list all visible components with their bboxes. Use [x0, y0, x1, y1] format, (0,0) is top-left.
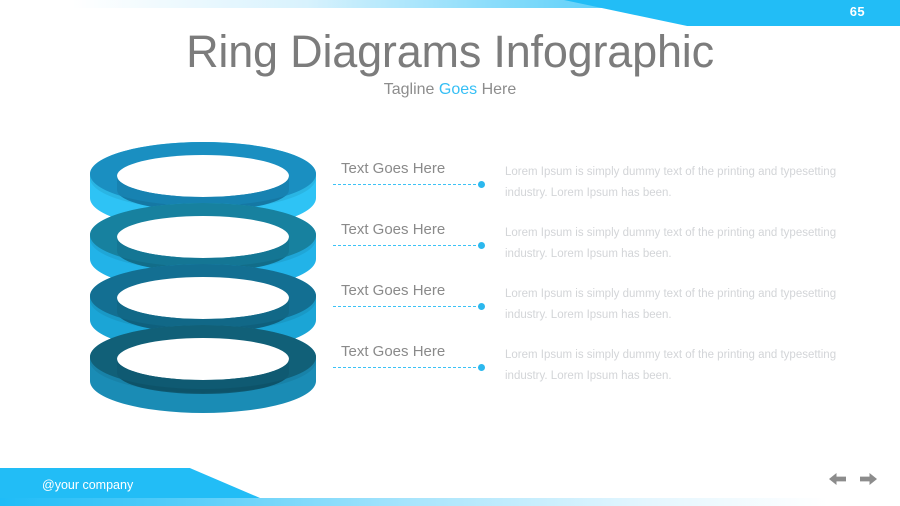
row-divider-line	[333, 367, 481, 368]
row-connector-dot	[478, 364, 485, 371]
arrow-left-icon[interactable]	[828, 472, 847, 486]
ring-number-label: 04	[88, 416, 318, 433]
slide-canvas: 65 Ring Diagrams Infographic Tagline Goe…	[0, 0, 900, 506]
arrow-right-icon[interactable]	[859, 472, 878, 486]
slide-navigation	[828, 472, 878, 486]
content-row: Text Goes HereLorem Ipsum is simply dumm…	[333, 221, 878, 283]
page-tagline: Tagline Goes Here	[0, 81, 900, 99]
row-heading-group: Text Goes Here	[333, 282, 488, 299]
ring-stack-diagram: 01020304	[88, 140, 318, 440]
row-heading: Text Goes Here	[333, 160, 488, 177]
row-heading-group: Text Goes Here	[333, 160, 488, 177]
row-heading-group: Text Goes Here	[333, 221, 488, 238]
footer-company-label: @your company	[42, 478, 133, 492]
row-connector-dot	[478, 242, 485, 249]
row-body-text: Lorem Ipsum is simply dummy text of the …	[505, 223, 873, 265]
row-connector-dot	[478, 181, 485, 188]
ring-number-label: 02	[88, 294, 318, 311]
ring-number-label: 01	[88, 233, 318, 250]
ring-number-label: 03	[88, 355, 318, 372]
content-row: Text Goes HereLorem Ipsum is simply dumm…	[333, 343, 878, 405]
tagline-part-2: Here	[477, 81, 516, 98]
tagline-part-1: Tagline	[384, 81, 439, 98]
page-title: Ring Diagrams Infographic	[0, 26, 900, 78]
row-divider-line	[333, 245, 481, 246]
row-heading: Text Goes Here	[333, 221, 488, 238]
page-number: 65	[850, 4, 865, 19]
row-connector-dot	[478, 303, 485, 310]
tagline-accent: Goes	[439, 81, 477, 98]
row-body-text: Lorem Ipsum is simply dummy text of the …	[505, 162, 873, 204]
bottom-gradient-strip	[0, 498, 900, 506]
row-divider-line	[333, 184, 481, 185]
content-row: Text Goes HereLorem Ipsum is simply dumm…	[333, 160, 878, 222]
row-divider-line	[333, 306, 481, 307]
row-heading-group: Text Goes Here	[333, 343, 488, 360]
row-body-text: Lorem Ipsum is simply dummy text of the …	[505, 345, 873, 387]
row-body-text: Lorem Ipsum is simply dummy text of the …	[505, 284, 873, 326]
row-heading: Text Goes Here	[333, 282, 488, 299]
row-heading: Text Goes Here	[333, 343, 488, 360]
content-row: Text Goes HereLorem Ipsum is simply dumm…	[333, 282, 878, 344]
